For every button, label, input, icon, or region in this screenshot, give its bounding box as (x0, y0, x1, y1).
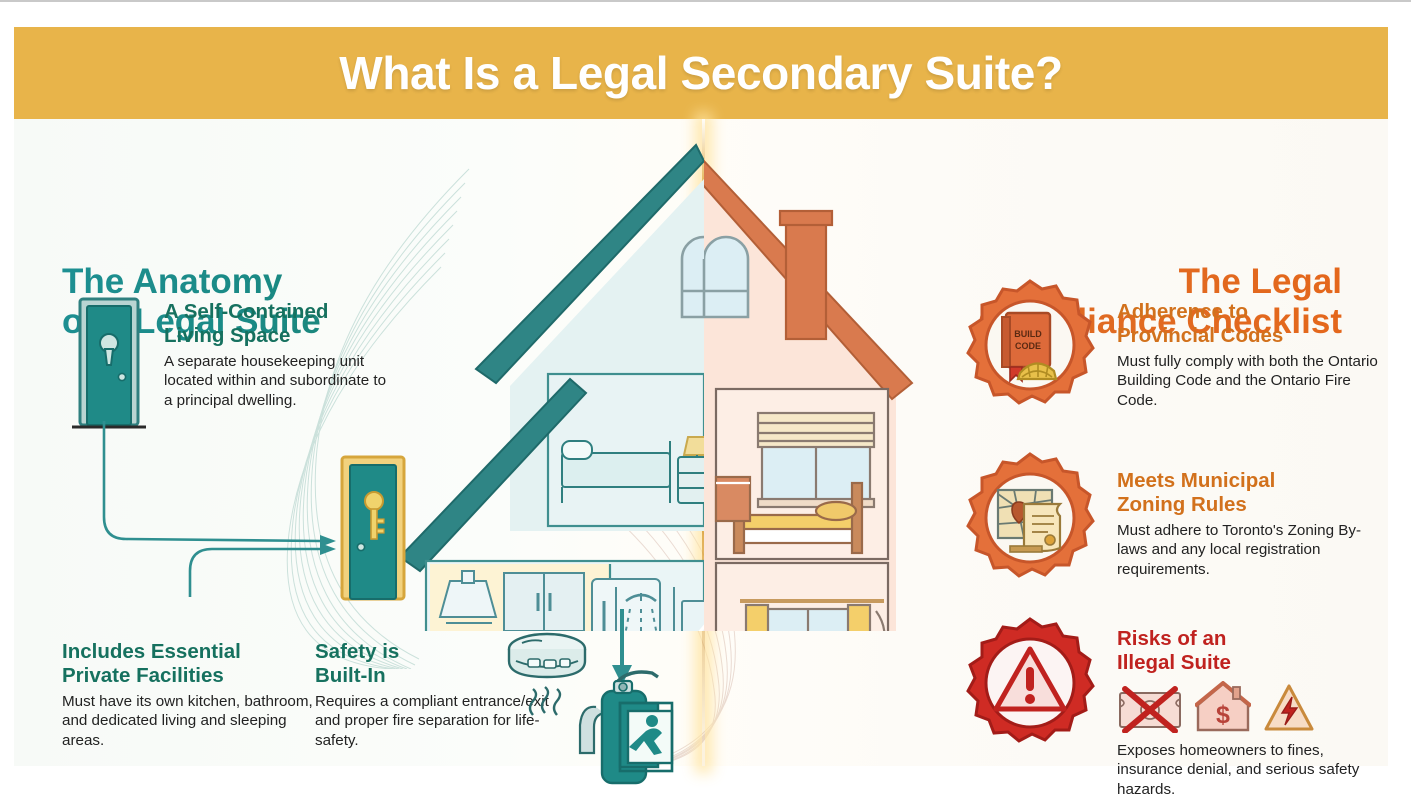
suite-entrance-door-key-icon (332, 455, 414, 605)
title-banner: What Is a Legal Secondary Suite? (14, 27, 1388, 119)
top-rule-divider (0, 0, 1411, 2)
warning-triangle-badge-icon (962, 615, 1098, 751)
poster-body: What Is a Legal Secondary Suite? (14, 27, 1388, 766)
infographic-canvas: What Is a Legal Secondary Suite? (0, 0, 1411, 793)
right-item-provincial-codes-body: Must fully comply with both the Ontario … (1117, 352, 1379, 411)
right-item-zoning-rules-body: Must adhere to Toronto's Zoning By-laws … (1117, 521, 1383, 580)
right-item-illegal-suite-risks-title: Risks of an Illegal Suite (1117, 627, 1385, 675)
left-item-private-facilities-title: Includes Essential Private Facilities (62, 640, 330, 688)
electrical-hazard-triangle-icon (1263, 683, 1315, 733)
right-item-illegal-suite-risks-body: Exposes homeowners to fines, insurance d… (1117, 741, 1385, 800)
left-item-self-contained: A Self-Contained Living Space A separate… (164, 300, 396, 411)
svg-text:BUILD: BUILD (1014, 329, 1042, 339)
left-item-private-facilities: Includes Essential Private Facilities Mu… (62, 640, 330, 751)
building-code-book-hardhat-badge-icon: BUILD CODE (962, 277, 1098, 413)
right-item-provincial-codes-title: Adherence to Provincial Codes (1117, 300, 1379, 348)
content-area: The Anatomy of a Legal Suite A Self-Cont… (14, 119, 1388, 766)
right-item-illegal-suite-risks: Risks of an Illegal Suite (1117, 627, 1385, 800)
svg-text:CODE: CODE (1015, 341, 1041, 351)
door-with-keyhole-icon (68, 295, 150, 435)
right-item-zoning-rules: Meets Municipal Zoning Rules Must adhere… (1117, 469, 1383, 580)
house-with-dollar-sign-icon: $ (1195, 681, 1251, 733)
risk-icons-row: $ (1117, 681, 1385, 733)
svg-text:$: $ (1216, 701, 1230, 729)
right-item-provincial-codes: Adherence to Provincial Codes Must fully… (1117, 300, 1379, 411)
crossed-out-banknote-icon (1117, 685, 1183, 733)
left-item-private-facilities-body: Must have its own kitchen, bathroom, and… (62, 692, 330, 751)
left-item-self-contained-title: A Self-Contained Living Space (164, 300, 396, 348)
right-item-zoning-rules-title: Meets Municipal Zoning Rules (1117, 469, 1383, 517)
left-item-self-contained-body: A separate housekeeping unit located wit… (164, 352, 396, 411)
zoning-map-scroll-badge-icon (962, 450, 1098, 586)
page-title: What Is a Legal Secondary Suite? (339, 46, 1062, 100)
fire-extinguisher-exit-sign-icon (574, 661, 696, 791)
